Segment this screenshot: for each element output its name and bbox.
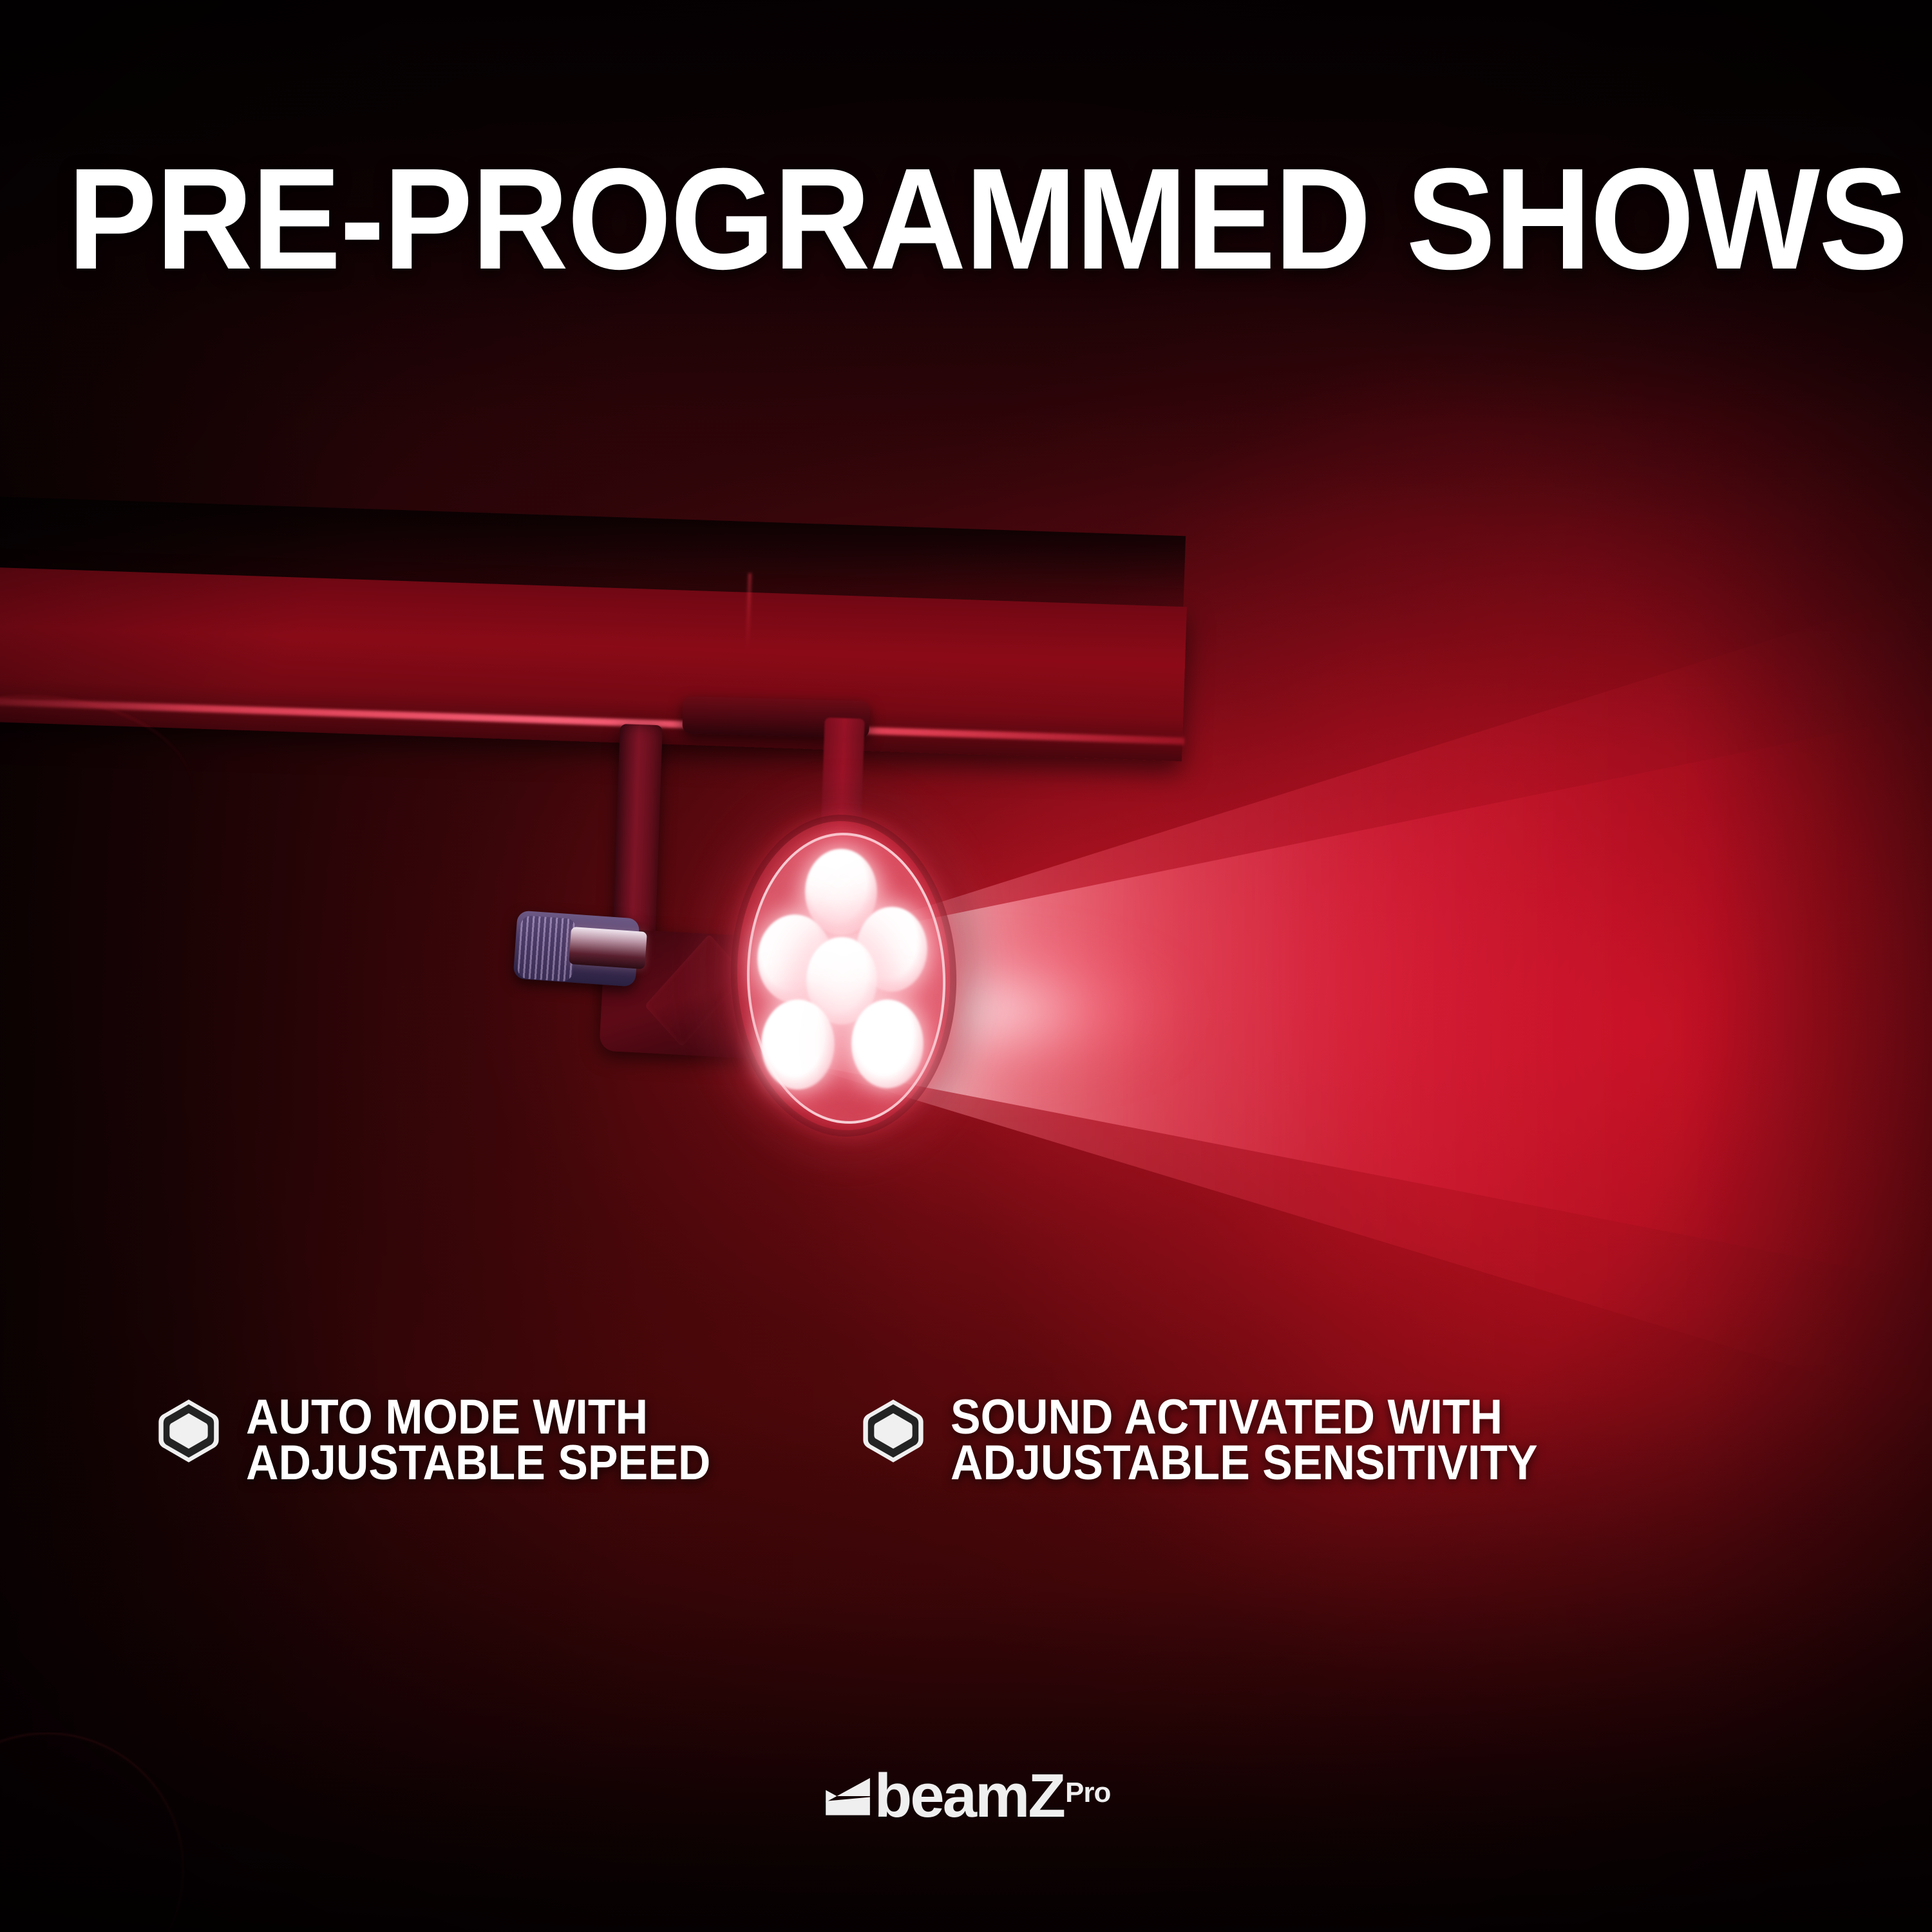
beamz-arrow-mark-icon xyxy=(822,1771,872,1821)
poster-canvas: PRE-PROGRAMMED SHOWS AUTO MODE WITH ADJU… xyxy=(0,0,1932,1932)
poster-content: PRE-PROGRAMMED SHOWS AUTO MODE WITH ADJU… xyxy=(0,0,1932,1932)
feature-line-2: ADJUSTABLE SPEED xyxy=(246,1440,710,1486)
hexagon-bullet-icon xyxy=(859,1397,927,1465)
feature-list: AUTO MODE WITH ADJUSTABLE SPEED SOUND AC… xyxy=(155,1394,1803,1486)
logo-lockup: beamZ Pro xyxy=(822,1770,1111,1823)
brand-logo: beamZ Pro xyxy=(0,1770,1932,1823)
feature-item-sound-activated: SOUND ACTIVATED WITH ADJUSTABLE SENSITIV… xyxy=(859,1394,1589,1486)
feature-line-1: SOUND ACTIVATED WITH xyxy=(951,1394,1538,1440)
feature-line-1: AUTO MODE WITH xyxy=(246,1394,710,1440)
page-title: PRE-PROGRAMMED SHOWS xyxy=(68,147,1864,291)
feature-item-auto-mode: AUTO MODE WITH ADJUSTABLE SPEED xyxy=(155,1394,751,1486)
feature-line-2: ADJUSTABLE SENSITIVITY xyxy=(951,1440,1538,1486)
feature-label: AUTO MODE WITH ADJUSTABLE SPEED xyxy=(246,1394,710,1486)
logo-superscript: Pro xyxy=(1065,1779,1110,1807)
feature-label: SOUND ACTIVATED WITH ADJUSTABLE SENSITIV… xyxy=(951,1394,1538,1486)
hexagon-bullet-icon xyxy=(155,1397,223,1465)
logo-wordmark: beamZ xyxy=(875,1770,1064,1823)
